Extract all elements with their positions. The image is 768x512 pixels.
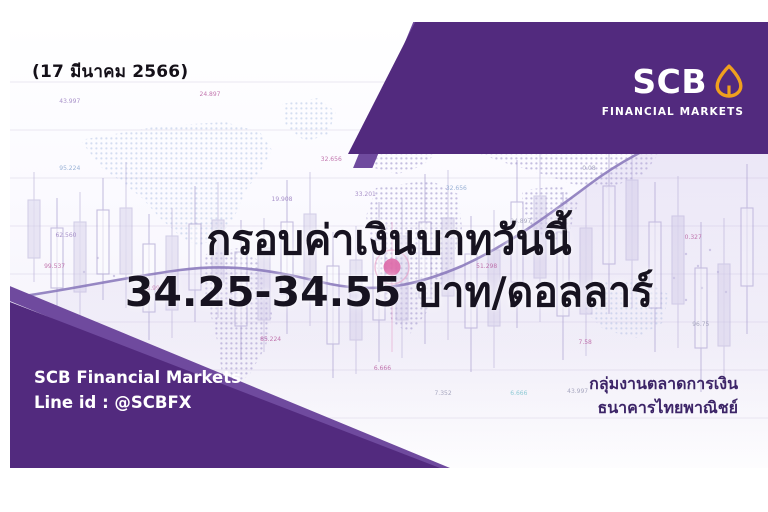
chart-value-label: 95.224 [59,165,80,172]
chart-value-label: 85.224 [260,336,281,343]
footer-department: กลุ่มงานตลาดการเงิน ธนาคารไทยพาณิชย์ [589,372,738,420]
logo-row: SCB [602,64,744,98]
scb-logo: SCB FINANCIAL MARKETS [602,64,744,118]
chart-value-label: 6.666 [374,365,391,372]
chart-value-label: 19.908 [272,196,293,203]
chart-value-label: 0.08 [582,165,595,172]
chart-value-label: 7.352 [434,390,451,397]
footer-department-line-1: กลุ่มงานตลาดการเงิน [589,372,738,396]
chart-value-label: 32.656 [446,185,467,192]
headline-line-1: กรอบค่าเงินบาทวันนี้ [10,218,768,264]
scb-wordmark: SCB [632,65,707,98]
poster-card: 43.99724.89758.96295.22432.65632.6560.08… [10,22,768,468]
bodhi-leaf-icon [714,64,744,98]
chart-value-label: 43.997 [59,98,80,105]
footer-line-id: Line id : @SCBFX [34,390,241,416]
headline-line-2: 34.25-34.55 บาท/ดอลลาร์ [10,270,768,316]
chart-value-label: 24.897 [200,91,221,98]
chart-value-label: 7.58 [579,339,592,346]
chart-value-label: 32.656 [321,156,342,163]
footer-brand-name: SCB Financial Markets [34,365,241,391]
poster-canvas: 43.99724.89758.96295.22432.65632.6560.08… [0,0,768,512]
page-title: กรอบค่าเงินบาทวันนี้ 34.25-34.55 บาท/ดอล… [10,218,768,316]
chart-value-label: 6.666 [510,390,527,397]
footer-contact: SCB Financial Markets Line id : @SCBFX [34,365,241,416]
footer-department-line-2: ธนาคารไทยพาณิชย์ [589,396,738,420]
publication-date: (17 มีนาคม 2566) [32,58,188,85]
chart-value-label: 43.997 [567,388,588,395]
chart-value-label: 33.201 [355,191,376,198]
logo-subtitle: FINANCIAL MARKETS [602,107,744,118]
chart-value-label: 96.75 [692,321,709,328]
